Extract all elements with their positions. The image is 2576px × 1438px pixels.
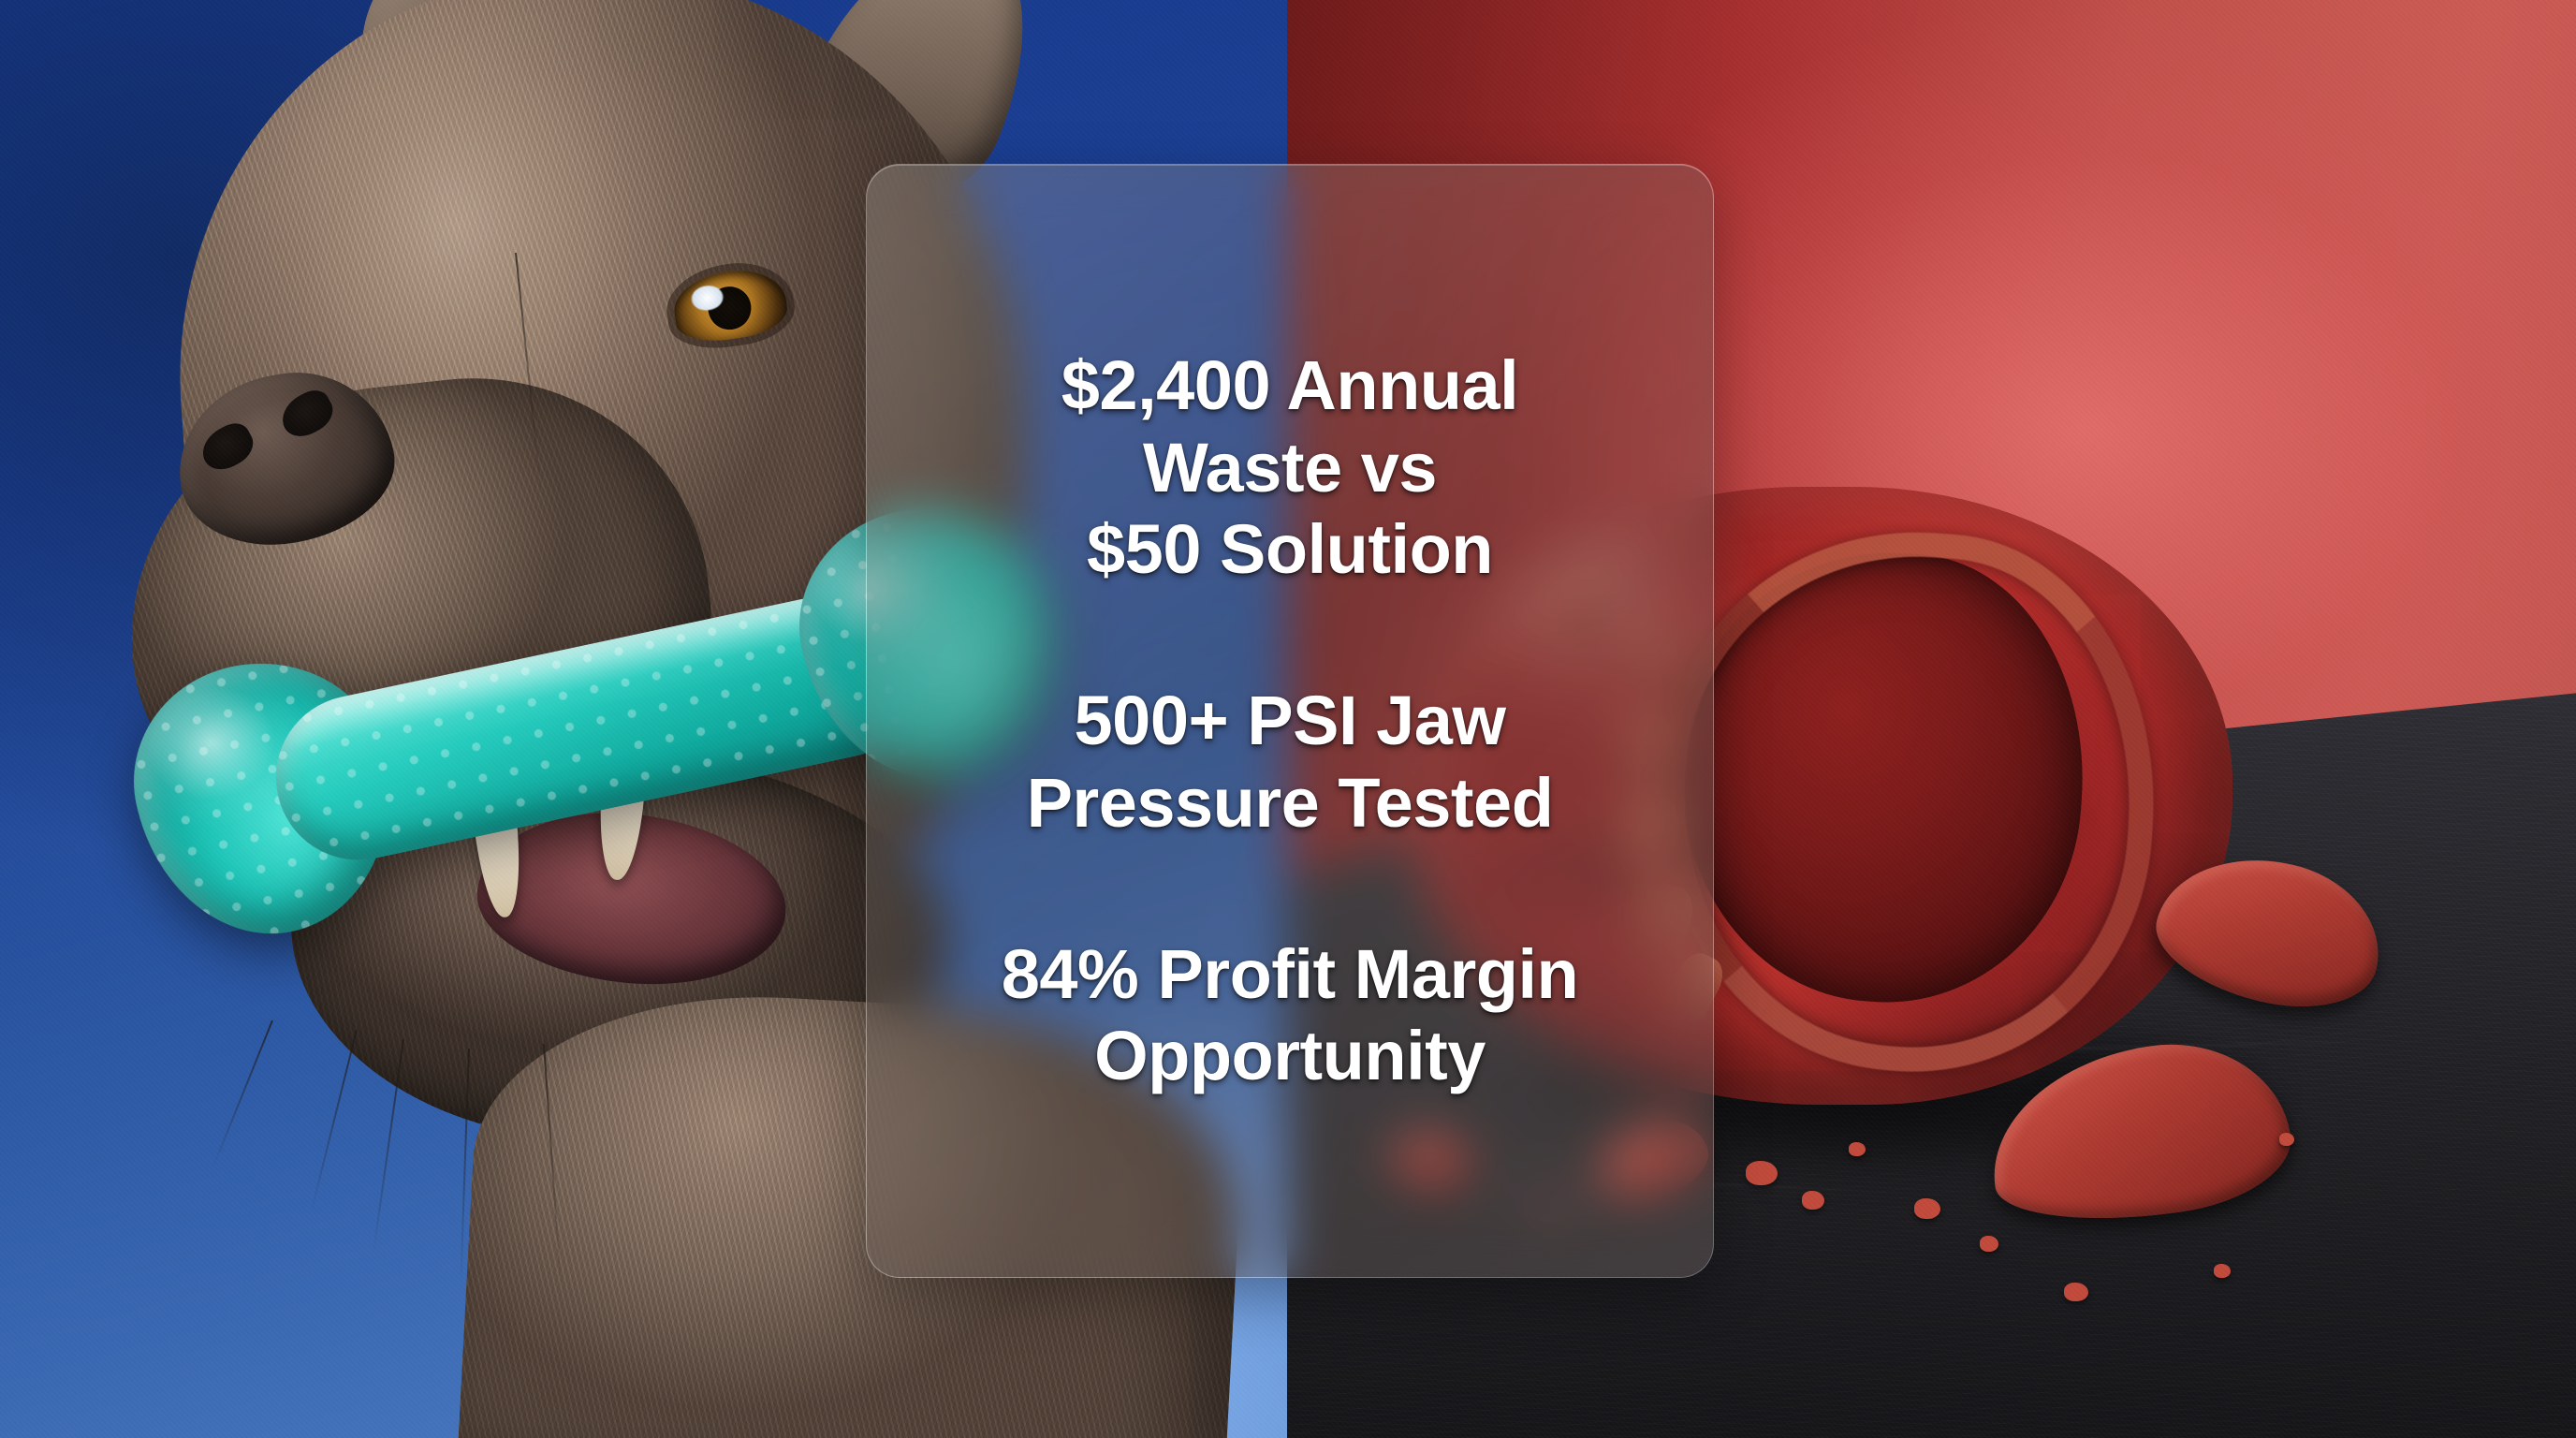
debris-crumb-5 [1980, 1236, 1998, 1252]
stat-cost-comparison: $2,400 AnnualWaste vs$50 Solution [1061, 345, 1518, 590]
infographic-canvas: $2,400 AnnualWaste vs$50 Solution 500+ P… [0, 0, 2576, 1438]
stat-profit-margin: 84% Profit MarginOpportunity [1002, 933, 1579, 1097]
debris-crumb-2 [1802, 1191, 1824, 1210]
debris-crumb-7 [2279, 1133, 2294, 1146]
nostril-right [274, 385, 339, 444]
debris-crumb-8 [2064, 1283, 2088, 1301]
debris-crumb-3 [1849, 1142, 1866, 1156]
debris-crumb-1 [1746, 1161, 1778, 1185]
value-proposition-glass-card: $2,400 AnnualWaste vs$50 Solution 500+ P… [866, 164, 1714, 1278]
debris-crumb-9 [2214, 1264, 2231, 1278]
nostril-left [195, 418, 259, 477]
debris-crumb-4 [1914, 1198, 1940, 1219]
stat-jaw-pressure: 500+ PSI JawPressure Tested [1027, 680, 1554, 844]
whisker-1 [311, 1030, 358, 1212]
whisker-5 [212, 1020, 273, 1168]
